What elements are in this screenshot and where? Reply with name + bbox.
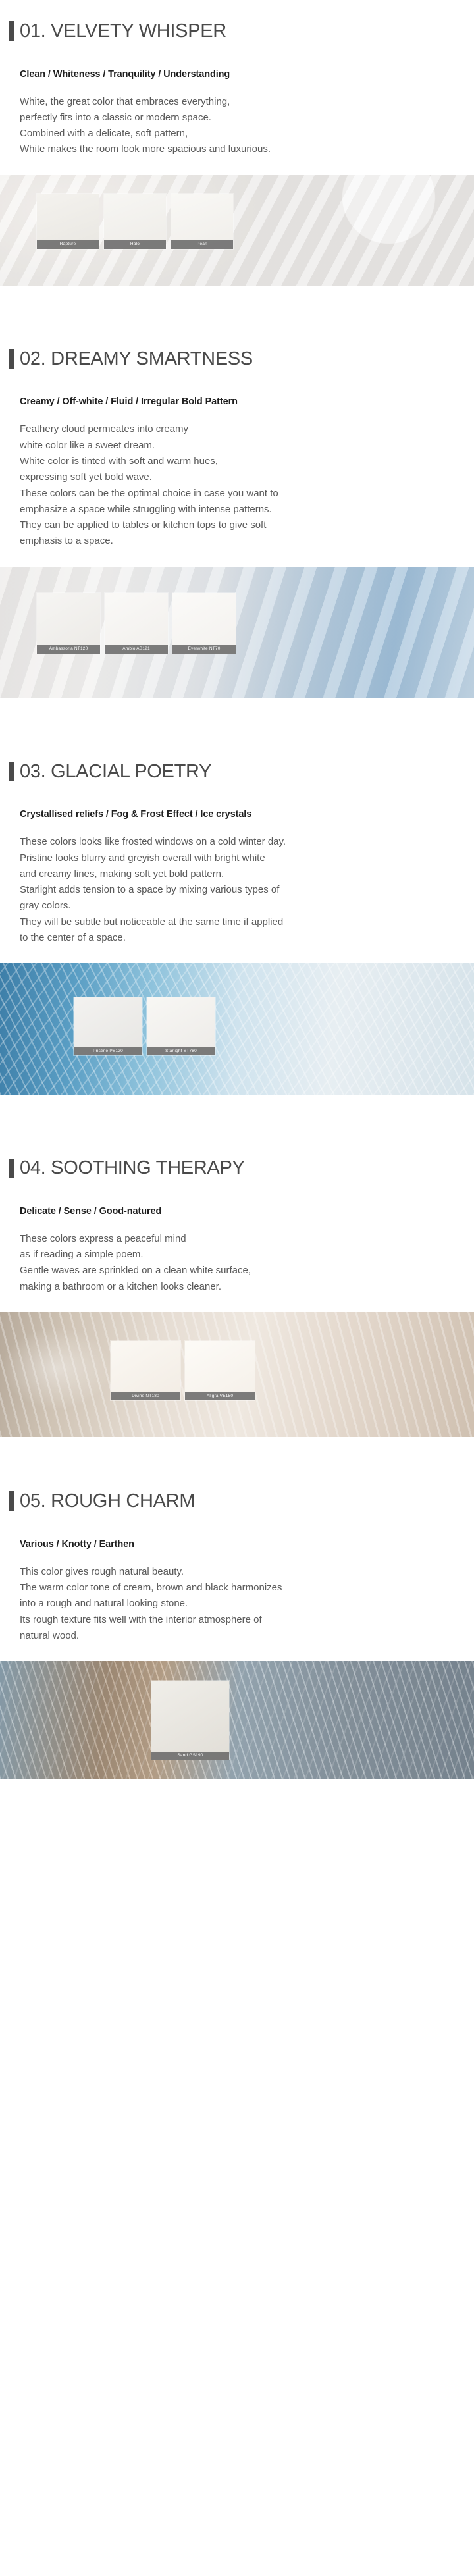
- section-dreamy-smartness: 02. DREAMY SMARTNESS Creamy / Off-white …: [0, 333, 474, 698]
- swatch-label: Pearl: [171, 240, 233, 249]
- section-spacer: [0, 1095, 474, 1142]
- section-heading: 03. GLACIAL POETRY: [0, 746, 474, 798]
- body-line: Starlight adds tension to a space by mix…: [20, 882, 474, 898]
- swatch-tile[interactable]: Pristine PS120: [74, 997, 142, 1055]
- swatch-tile[interactable]: Ambassoria NT120: [37, 593, 100, 654]
- body-line: Feathery cloud permeates into creamy: [20, 421, 474, 437]
- swatch-group: Ambassoria NT120 Ambio AB121 Everwhite N…: [37, 593, 240, 654]
- swatch-tile[interactable]: Divine NT180: [111, 1341, 180, 1400]
- body-line: They will be subtle but noticeable at th…: [20, 914, 474, 930]
- body-line: They can be applied to tables or kitchen…: [20, 517, 474, 533]
- swatch-label: Aligra VE150: [185, 1392, 255, 1401]
- body-line: White makes the room look more spacious …: [20, 142, 474, 157]
- body-line: natural wood.: [20, 1628, 474, 1644]
- swatch-label: Divine NT180: [111, 1392, 180, 1401]
- swatch-group: Sand GS190: [151, 1681, 229, 1760]
- section-body: This color gives rough natural beauty. T…: [0, 1564, 474, 1644]
- heading-accent-bar: [9, 762, 14, 781]
- swatch-label: Pristine PS120: [74, 1047, 142, 1056]
- heading-accent-bar: [9, 1159, 14, 1178]
- body-line: to the center of a space.: [20, 930, 474, 946]
- section-body: Feathery cloud permeates into creamy whi…: [0, 421, 474, 549]
- section-body: These colors express a peaceful mind as …: [0, 1231, 474, 1295]
- body-line: This color gives rough natural beauty.: [20, 1564, 474, 1580]
- swatch-group: Pristine PS120 Starlight ST780: [74, 997, 220, 1055]
- section-keywords: Creamy / Off-white / Fluid / Irregular B…: [0, 396, 474, 407]
- body-line: These colors looks like frosted windows …: [20, 834, 474, 850]
- photo-background: [0, 963, 474, 1095]
- swatch-tile[interactable]: Halo: [104, 194, 166, 249]
- body-line: into a rough and natural looking stone.: [20, 1596, 474, 1612]
- section-rough-charm: 05. ROUGH CHARM Various / Knotty / Earth…: [0, 1475, 474, 1779]
- heading-accent-bar: [9, 1491, 14, 1511]
- section-photo: Rapture Halo Pearl: [0, 175, 474, 286]
- swatch-label: Halo: [104, 240, 166, 249]
- swatch-tile[interactable]: Pearl: [171, 194, 233, 249]
- body-line: White color is tinted with soft and warm…: [20, 454, 474, 469]
- heading-accent-bar: [9, 21, 14, 41]
- section-keywords: Delicate / Sense / Good-natured: [0, 1206, 474, 1217]
- body-line: emphasis to a space.: [20, 533, 474, 549]
- body-line: perfectly fits into a classic or modern …: [20, 110, 474, 126]
- body-line: white color like a sweet dream.: [20, 438, 474, 454]
- page-title: 02. DREAMY SMARTNESS: [20, 349, 253, 369]
- swatch-label: Ambassoria NT120: [37, 645, 100, 654]
- section-spacer: [0, 698, 474, 746]
- section-photo: Sand GS190: [0, 1661, 474, 1779]
- swatch-label: Ambio AB121: [105, 645, 168, 654]
- section-photo: Pristine PS120 Starlight ST780: [0, 963, 474, 1095]
- body-line: Gentle waves are sprinkled on a clean wh…: [20, 1263, 474, 1278]
- page-title: 05. ROUGH CHARM: [20, 1491, 195, 1511]
- body-line: Combined with a delicate, soft pattern,: [20, 126, 474, 142]
- swatch-tile[interactable]: Ambio AB121: [105, 593, 168, 654]
- body-line: The warm color tone of cream, brown and …: [20, 1580, 474, 1596]
- swatch-label: Starlight ST780: [147, 1047, 215, 1056]
- swatch-label: Sand GS190: [151, 1752, 229, 1760]
- body-line: Pristine looks blurry and greyish overal…: [20, 851, 474, 866]
- body-line: making a bathroom or a kitchen looks cle…: [20, 1279, 474, 1295]
- section-photo: Divine NT180 Aligra VE150: [0, 1312, 474, 1437]
- body-line: These colors can be the optimal choice i…: [20, 486, 474, 502]
- body-line: Its rough texture fits well with the int…: [20, 1612, 474, 1628]
- swatch-tile[interactable]: Sand GS190: [151, 1681, 229, 1760]
- section-glacial-poetry: 03. GLACIAL POETRY Crystallised reliefs …: [0, 746, 474, 1095]
- body-line: White, the great color that embraces eve…: [20, 94, 474, 110]
- section-velvety-whisper: 01. VELVETY WHISPER Clean / Whiteness / …: [0, 0, 474, 286]
- body-line: emphasize a space while struggling with …: [20, 502, 474, 517]
- page-title: 01. VELVETY WHISPER: [20, 21, 226, 41]
- swatch-tile[interactable]: Rapture: [37, 194, 99, 249]
- body-line: expressing soft yet bold wave.: [20, 469, 474, 485]
- section-keywords: Clean / Whiteness / Tranquility / Unders…: [0, 69, 474, 80]
- page-title: 03. GLACIAL POETRY: [20, 762, 211, 781]
- swatch-tile[interactable]: Aligra VE150: [185, 1341, 255, 1400]
- section-keywords: Various / Knotty / Earthen: [0, 1539, 474, 1550]
- body-line: and creamy lines, making soft yet bold p…: [20, 866, 474, 882]
- swatch-tile[interactable]: Starlight ST780: [147, 997, 215, 1055]
- body-line: gray colors.: [20, 898, 474, 914]
- section-spacer: [0, 286, 474, 333]
- section-heading: 05. ROUGH CHARM: [0, 1475, 474, 1527]
- section-body: White, the great color that embraces eve…: [0, 94, 474, 158]
- swatch-label: Everwhite NT70: [172, 645, 236, 654]
- swatch-label: Rapture: [37, 240, 99, 249]
- swatch-tile[interactable]: Everwhite NT70: [172, 593, 236, 654]
- section-keywords: Crystallised reliefs / Fog & Frost Effec…: [0, 809, 474, 820]
- photo-background: [0, 1661, 474, 1779]
- color-collection-page: 01. VELVETY WHISPER Clean / Whiteness / …: [0, 0, 474, 1779]
- section-body: These colors looks like frosted windows …: [0, 834, 474, 946]
- section-heading: 02. DREAMY SMARTNESS: [0, 333, 474, 385]
- section-heading: 01. VELVETY WHISPER: [0, 5, 474, 57]
- section-spacer: [0, 1437, 474, 1475]
- body-line: These colors express a peaceful mind: [20, 1231, 474, 1247]
- body-line: as if reading a simple poem.: [20, 1247, 474, 1263]
- section-photo: Ambassoria NT120 Ambio AB121 Everwhite N…: [0, 567, 474, 698]
- page-title: 04. SOOTHING THERAPY: [20, 1158, 245, 1178]
- section-heading: 04. SOOTHING THERAPY: [0, 1142, 474, 1194]
- swatch-group: Rapture Halo Pearl: [37, 194, 238, 249]
- section-soothing-therapy: 04. SOOTHING THERAPY Delicate / Sense / …: [0, 1142, 474, 1437]
- swatch-group: Divine NT180 Aligra VE150: [111, 1341, 259, 1400]
- heading-accent-bar: [9, 349, 14, 369]
